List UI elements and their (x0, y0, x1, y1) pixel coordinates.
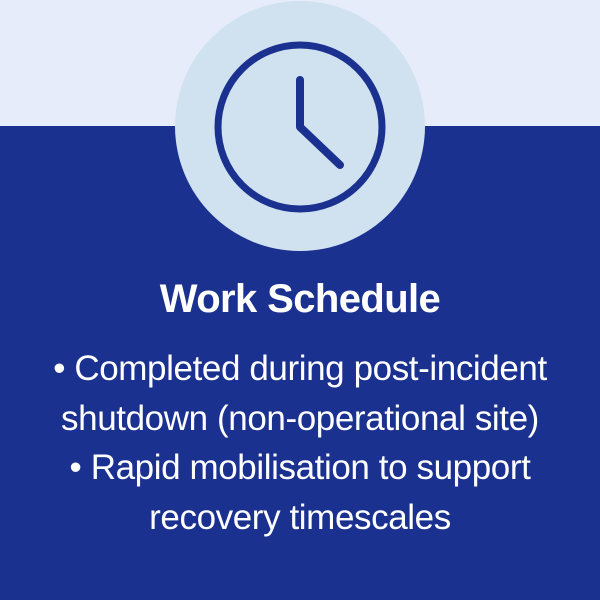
list-item: • Rapid mobilisation to support recovery… (0, 443, 600, 542)
list-item: • Completed during post-incident shutdow… (0, 344, 600, 443)
page-title: Work Schedule (0, 262, 600, 322)
list-item-line: • Completed during post-incident (0, 344, 600, 394)
card-content: Work Schedule • Completed during post-in… (0, 262, 600, 543)
clock-icon (175, 1, 425, 251)
list-item-line: recovery timescales (0, 493, 600, 543)
list-item-line: shutdown (non-operational site) (0, 394, 600, 444)
bullet-list: • Completed during post-incident shutdow… (0, 344, 600, 543)
work-schedule-card: Work Schedule • Completed during post-in… (0, 0, 600, 600)
list-item-line: • Rapid mobilisation to support (0, 443, 600, 493)
icon-badge (175, 1, 425, 251)
